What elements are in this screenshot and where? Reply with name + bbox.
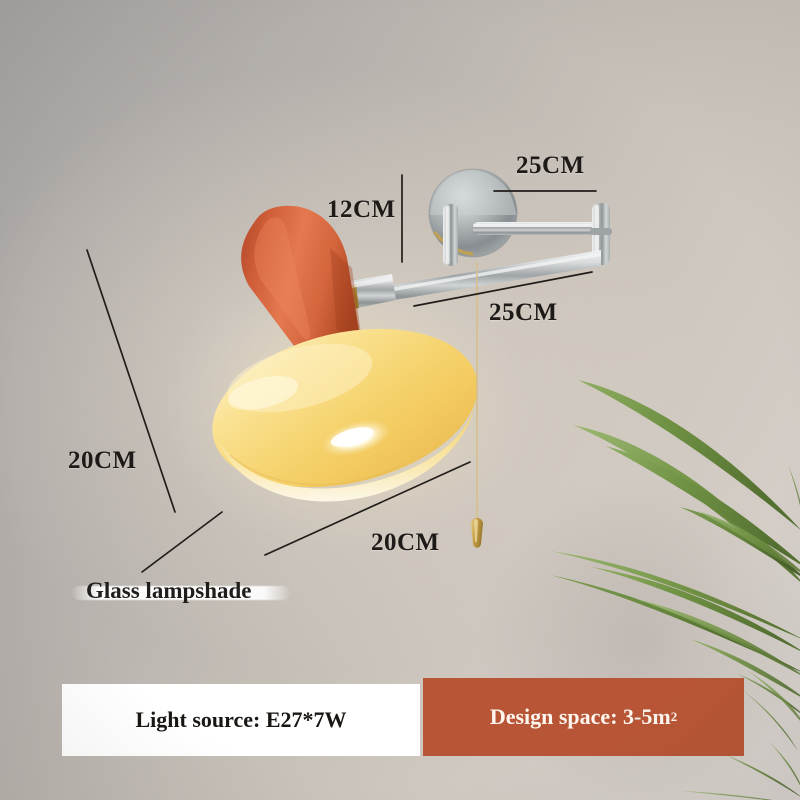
image-vignette — [0, 0, 800, 800]
product-image-canvas: 12CM 25CM 25CM 20CM 20CM Glass lampshade… — [0, 0, 800, 800]
